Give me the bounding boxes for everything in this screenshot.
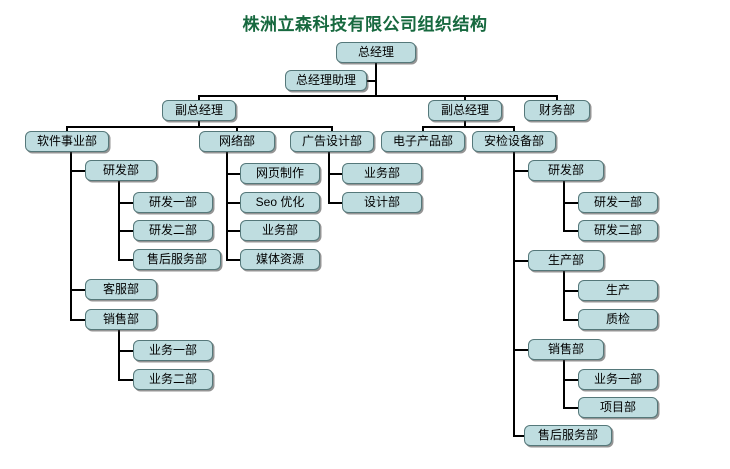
connector-soft-to-cs <box>70 289 86 291</box>
connector-ad-spine <box>328 152 330 202</box>
connector-sales-to-b1 <box>118 350 134 352</box>
org-chart-canvas: 株洲立森科技有限公司组织结构 总经理总经理助理副总经理副总经理财务部软件事业部网… <box>0 0 730 469</box>
org-node-n33[interactable]: 项目部 <box>578 397 658 418</box>
connector-ad-to-biz <box>328 173 343 175</box>
org-node-n11[interactable]: 研发部 <box>85 160 157 181</box>
org-node-n06[interactable]: 软件事业部 <box>25 131 109 152</box>
org-node-n05[interactable]: 财务部 <box>524 100 590 121</box>
org-node-n12[interactable]: 研发一部 <box>133 192 213 213</box>
org-node-n08[interactable]: 广告设计部 <box>290 131 374 152</box>
connector-level1-bus <box>198 95 558 97</box>
org-node-n13[interactable]: 研发二部 <box>133 220 213 241</box>
connector-net-to-seo <box>226 202 241 204</box>
org-node-n07[interactable]: 网络部 <box>199 131 275 152</box>
org-node-n19[interactable]: 网页制作 <box>240 163 320 184</box>
org-node-n21[interactable]: 业务部 <box>240 220 320 241</box>
connector-gm-assistant-stub <box>367 80 376 82</box>
connector-sec-to-sales <box>513 349 529 351</box>
connector-sec-to-rd <box>513 170 529 172</box>
connector-rd-spine <box>118 181 120 259</box>
connector-secrd-to-rd1 <box>563 202 579 204</box>
org-node-n22[interactable]: 媒体资源 <box>240 249 320 270</box>
connector-net-to-web <box>226 173 241 175</box>
org-node-n01[interactable]: 总经理 <box>336 42 416 63</box>
page-title: 株洲立森科技有限公司组织结构 <box>0 10 730 35</box>
org-node-n32[interactable]: 业务一部 <box>578 369 658 390</box>
org-node-n14[interactable]: 售后服务部 <box>133 249 221 270</box>
org-node-n27[interactable]: 研发二部 <box>578 220 658 241</box>
connector-soft-to-rd <box>70 170 86 172</box>
org-node-n25[interactable]: 研发部 <box>528 160 604 181</box>
org-node-n09[interactable]: 电子产品部 <box>381 131 465 152</box>
connector-net-spine <box>226 152 228 259</box>
connector-sec-to-prod <box>513 260 529 262</box>
connector-secrd-to-rd2 <box>563 230 579 232</box>
connector-prod-to-make <box>563 290 579 292</box>
connector-secsales-to-b1 <box>563 379 579 381</box>
connector-secsales-to-proj <box>563 407 579 409</box>
connector-rd-to-svc <box>118 259 134 261</box>
org-node-n04[interactable]: 副总经理 <box>428 100 502 121</box>
connector-sec-spine <box>513 152 515 435</box>
connector-prod-to-qa <box>563 319 579 321</box>
org-node-n20[interactable]: Seo 优化 <box>240 192 320 213</box>
org-node-n30[interactable]: 质检 <box>578 309 658 330</box>
connector-secsales-spine <box>563 360 565 408</box>
connector-soft-to-sales <box>70 319 86 321</box>
connector-vp-right-bus <box>422 126 514 128</box>
connector-soft-spine <box>70 152 72 320</box>
connector-sales-to-b2 <box>118 379 134 381</box>
org-node-n29[interactable]: 生产 <box>578 280 658 301</box>
connector-secrd-spine <box>563 181 565 230</box>
org-node-n24[interactable]: 设计部 <box>342 192 422 213</box>
org-node-n34[interactable]: 售后服务部 <box>524 425 612 446</box>
org-node-n31[interactable]: 销售部 <box>528 339 604 360</box>
org-node-n15[interactable]: 客服部 <box>85 279 157 300</box>
connector-sales-spine <box>118 330 120 379</box>
org-node-n03[interactable]: 副总经理 <box>162 100 236 121</box>
connector-prod-spine <box>563 271 565 320</box>
connector-rd-to-rd2 <box>118 230 134 232</box>
connector-net-to-biz <box>226 230 241 232</box>
org-node-n02[interactable]: 总经理助理 <box>285 70 367 91</box>
connector-vp-left-bus <box>66 126 332 128</box>
org-node-n26[interactable]: 研发一部 <box>578 192 658 213</box>
org-node-n23[interactable]: 业务部 <box>342 163 422 184</box>
connector-net-to-media <box>226 259 241 261</box>
org-node-n16[interactable]: 销售部 <box>85 309 157 330</box>
org-node-n10[interactable]: 安检设备部 <box>472 131 556 152</box>
org-node-n28[interactable]: 生产部 <box>528 250 604 271</box>
connector-ad-to-design <box>328 202 343 204</box>
connector-rd-to-rd1 <box>118 202 134 204</box>
org-node-n17[interactable]: 业务一部 <box>133 340 213 361</box>
org-node-n18[interactable]: 业务二部 <box>133 369 213 390</box>
